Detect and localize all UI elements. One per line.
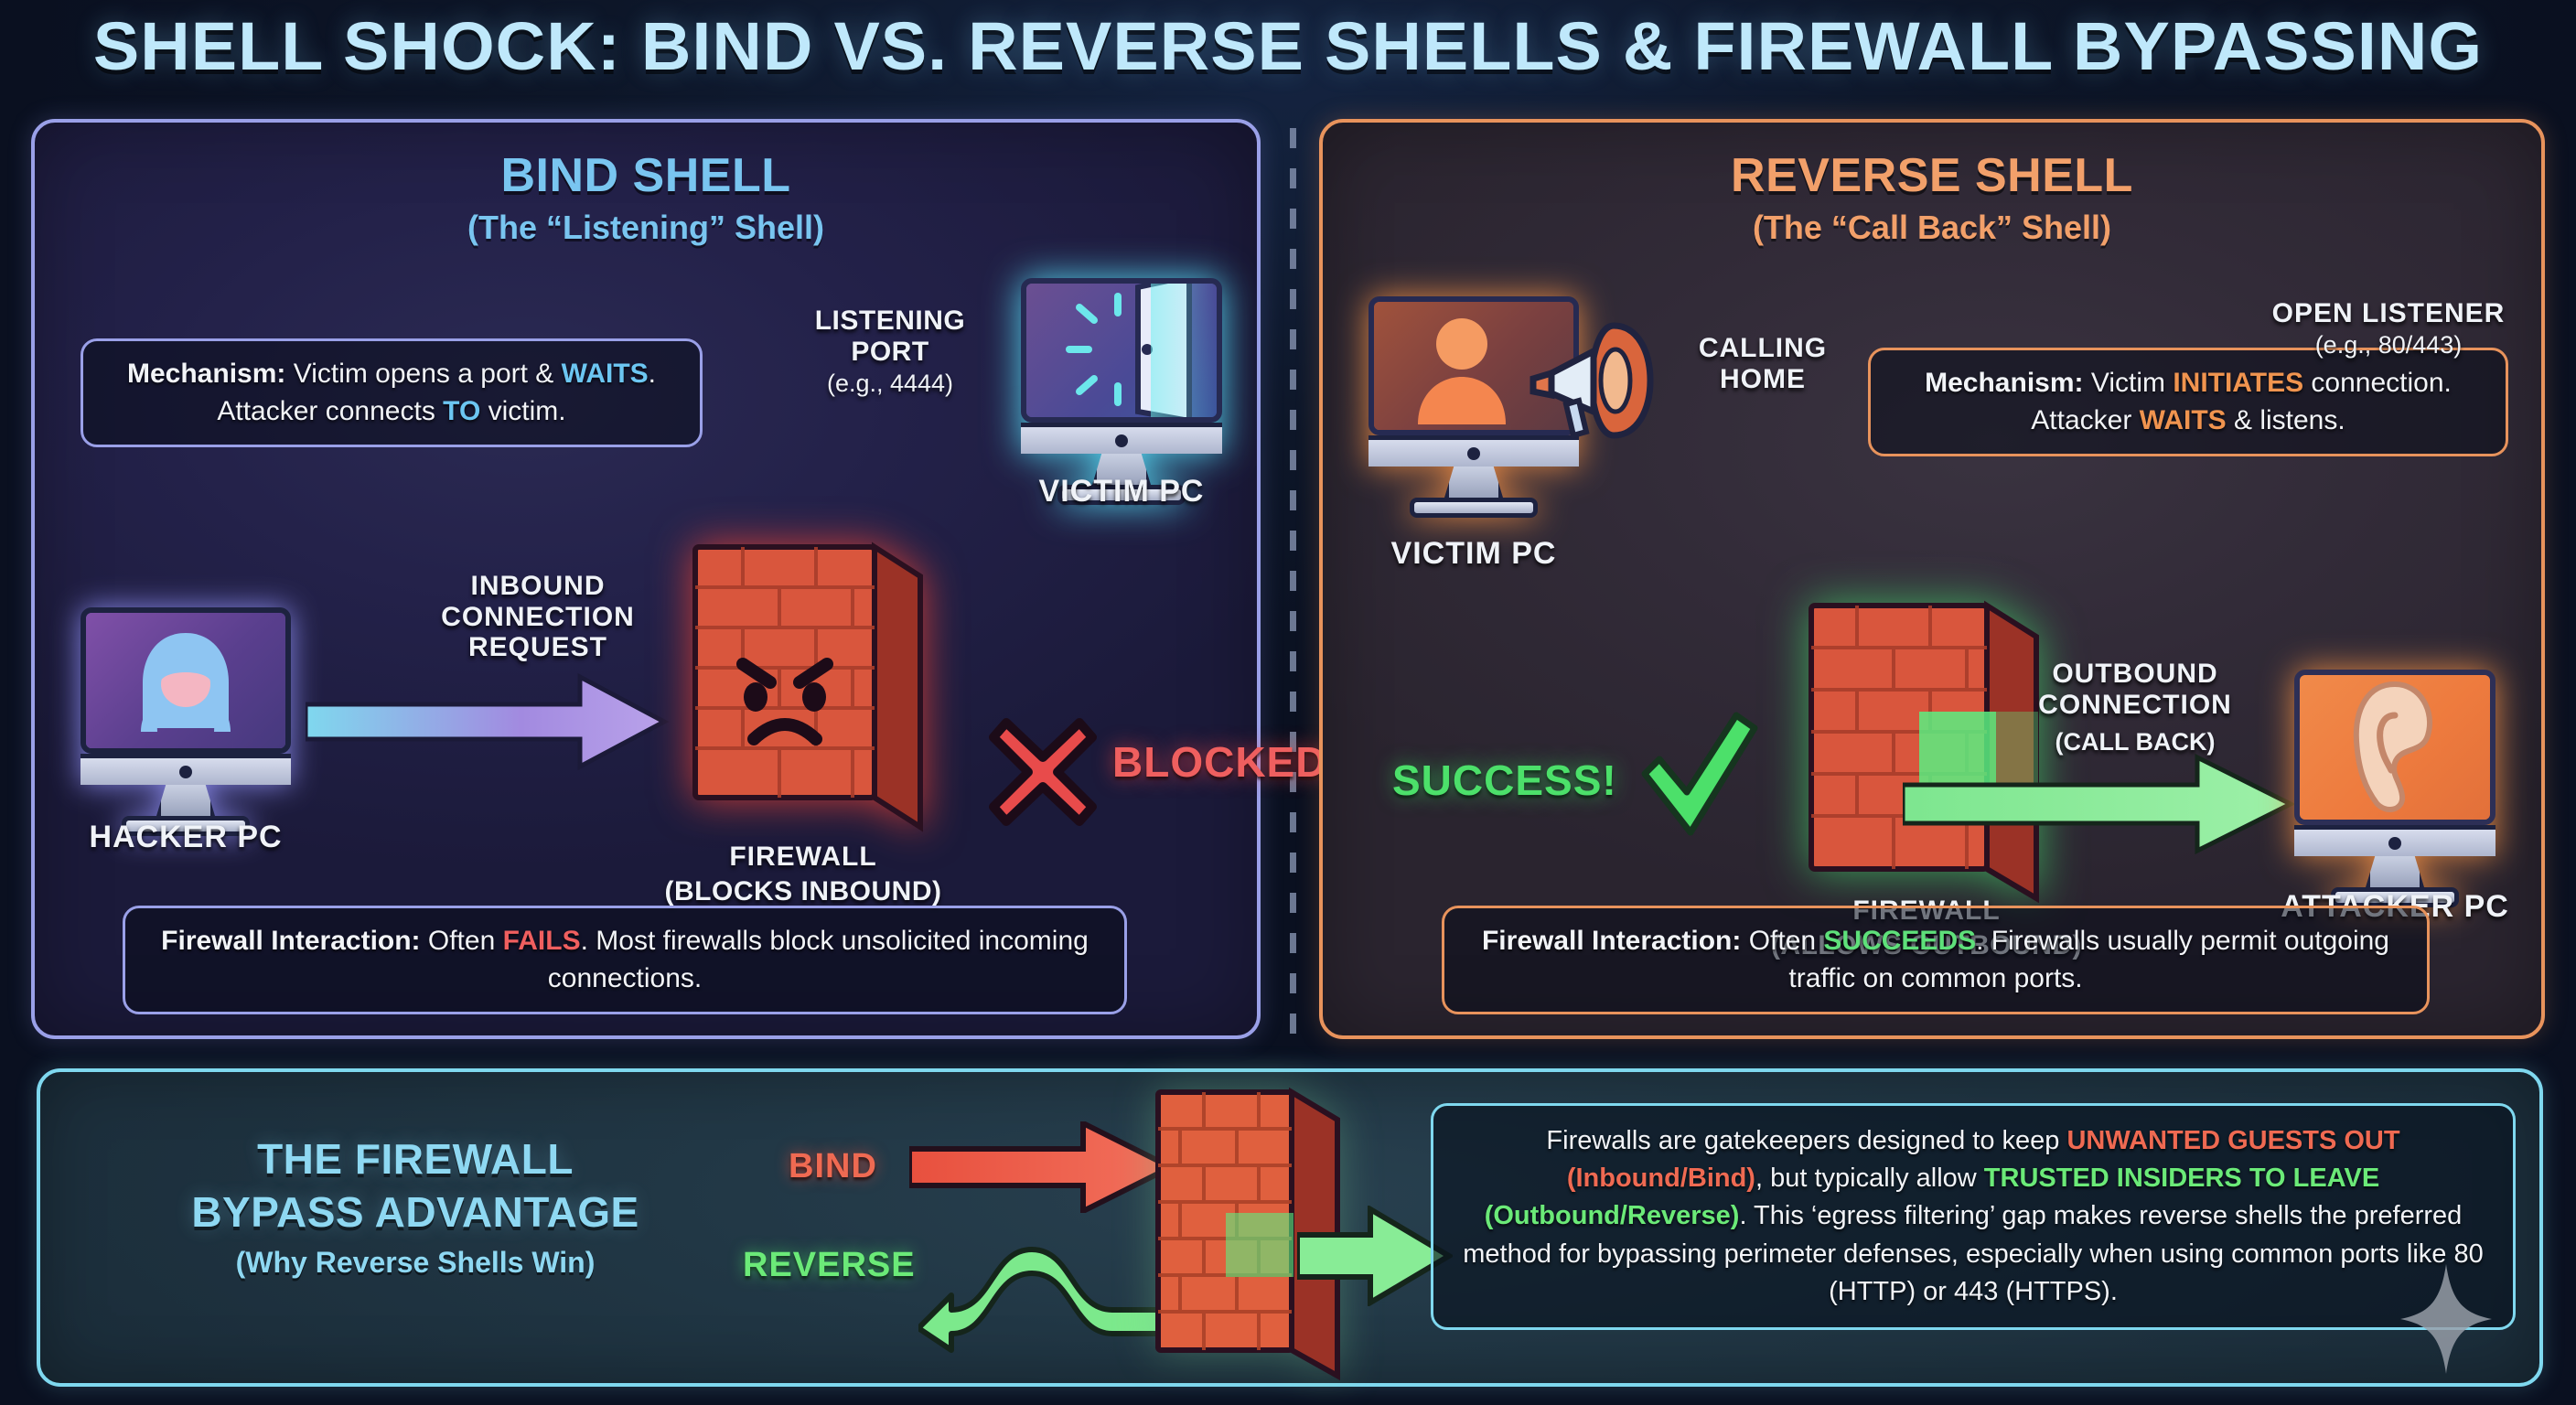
reverse-panel-header: REVERSE SHELL (The “Call Back” Shell)	[1323, 148, 2541, 247]
bind-mechanism-label: Mechanism:	[127, 359, 285, 389]
bind-panel-header: BIND SHELL (The “Listening” Shell)	[35, 148, 1257, 247]
monitor-chin	[1021, 423, 1222, 454]
firewall-blocked-sublabel: (BLOCKS INBOUND)	[602, 876, 1004, 907]
panel-divider	[1290, 128, 1296, 1034]
bind-interaction-highlight-fails: FAILS	[503, 926, 581, 956]
bypass-advantage-panel: THE FIREWALL BYPASS ADVANTAGE (Why Rever…	[37, 1068, 2543, 1387]
open-listener-label: OPEN LISTENER	[2238, 298, 2539, 329]
main-title: SHELL SHOCK: BIND VS. REVERSE SHELLS & F…	[0, 7, 2576, 85]
reverse-interaction-label: Firewall Interaction:	[1482, 926, 1741, 956]
reverse-mechanism-highlight-waits: WAITS	[2140, 405, 2227, 435]
reverse-interaction-box: Firewall Interaction: Often SUCCEEDS. Fi…	[1442, 906, 2430, 1014]
reverse-shell-panel: REVERSE SHELL (The “Call Back” Shell)	[1319, 119, 2545, 1039]
reverse-mechanism-text-1: Victim	[2084, 368, 2173, 398]
reverse-mechanism-box: Mechanism: Victim INITIATES connection. …	[1868, 348, 2508, 456]
reverse-interaction-highlight-succeeds: SUCCEEDS	[1823, 926, 1976, 956]
sparkle-icon	[2400, 1264, 2492, 1374]
summary-box: Firewalls are gatekeepers designed to ke…	[1431, 1103, 2516, 1330]
bind-mechanism-highlight-to: TO	[443, 396, 480, 426]
attacker-pc-monitor-icon	[2294, 670, 2495, 907]
victim-pc-label: VICTIM PC	[1003, 474, 1240, 509]
outbound-arrow-icon	[1903, 754, 2296, 854]
summary-highlight-unwanted-guests: UNWANTED GUESTS OUT	[2066, 1126, 2399, 1155]
hacker-pc-label: HACKER PC	[53, 820, 318, 854]
bind-interaction-label: Firewall Interaction:	[161, 926, 420, 956]
reverse-interaction-text-1: Often	[1741, 926, 1823, 956]
blocked-status-text: BLOCKED!	[1112, 737, 1342, 787]
bypass-exit-arrow-icon	[1297, 1206, 1453, 1306]
bottom-title-line-1: THE FIREWALL	[68, 1134, 763, 1184]
reverse-victim-pc-label: VICTIM PC	[1350, 536, 1597, 571]
main-title-text: SHELL SHOCK: BIND VS. REVERSE SHELLS & F…	[0, 7, 2576, 85]
firewall-wall-blocked-icon	[675, 536, 940, 842]
x-mark-icon	[988, 717, 1098, 827]
reverse-mechanism-label: Mechanism:	[1925, 368, 2083, 398]
bind-mechanism-box: Mechanism: Victim opens a port & WAITS. …	[80, 338, 703, 447]
bottom-subtitle: (Why Reverse Shells Win)	[68, 1246, 763, 1280]
summary-highlight-inbound-bind: (Inbound/Bind)	[1567, 1164, 1755, 1193]
bind-panel-title: BIND SHELL	[35, 148, 1257, 203]
bind-panel-subtitle: (The “Listening” Shell)	[35, 209, 1257, 247]
reverse-panel-subtitle: (The “Call Back” Shell)	[1323, 209, 2541, 247]
inbound-arrow-icon	[306, 671, 671, 772]
infographic-canvas: SHELL SHOCK: BIND VS. REVERSE SHELLS & F…	[0, 0, 2576, 1405]
check-mark-icon	[1634, 708, 1762, 845]
listening-port-label: LISTENING PORT	[785, 306, 995, 367]
open-listener-value: (e.g., 80/443)	[2239, 331, 2538, 359]
bind-mechanism-highlight-waits: WAITS	[562, 359, 649, 389]
bottom-title-block: THE FIREWALL BYPASS ADVANTAGE (Why Rever…	[68, 1134, 763, 1280]
outbound-connection-sublabel: (CALL BACK)	[1996, 728, 2274, 756]
summary-text-1: Firewalls are gatekeepers designed to ke…	[1546, 1126, 2066, 1155]
reverse-panel-title: REVERSE SHELL	[1323, 148, 2541, 203]
hacker-pc-monitor-icon	[80, 607, 291, 836]
bind-interaction-text-2: . Most firewalls block unsolicited incom…	[548, 926, 1089, 993]
megaphone-icon	[1526, 320, 1663, 445]
reverse-arrow-label: REVERSE	[743, 1246, 916, 1285]
summary-highlight-outbound-reverse: (Outbound/Reverse)	[1485, 1201, 1740, 1230]
listening-port-value: (e.g., 4444)	[774, 370, 1006, 397]
bind-mechanism-text-1: Victim opens a port &	[285, 359, 561, 389]
summary-highlight-trusted-insiders: TRUSTED INSIDERS TO LEAVE	[1984, 1164, 2379, 1193]
reverse-mechanism-highlight-initiates: INITIATES	[2173, 368, 2303, 398]
outbound-connection-label: OUTBOUND CONNECTION	[1998, 659, 2272, 720]
summary-text-2: , but typically allow	[1755, 1164, 1984, 1193]
firewall-blocked-label: FIREWALL	[620, 842, 986, 873]
bottom-title-line-2: BYPASS ADVANTAGE	[68, 1187, 763, 1237]
bind-mechanism-text-3: victim.	[480, 396, 565, 426]
reverse-mechanism-text-3: & listens.	[2227, 405, 2345, 435]
bind-shell-panel: BIND SHELL (The “Listening” Shell) Mecha…	[31, 119, 1261, 1039]
victim-pc-monitor-icon	[1021, 278, 1222, 505]
inbound-connection-label: INBOUND CONNECTION REQUEST	[401, 571, 675, 663]
calling-home-label: CALLING HOME	[1658, 333, 1868, 394]
success-status-text: SUCCESS!	[1392, 756, 1617, 805]
bind-arrow-label: BIND	[789, 1147, 877, 1186]
bind-interaction-box: Firewall Interaction: Often FAILS. Most …	[123, 906, 1127, 1014]
bind-interaction-text-1: Often	[421, 926, 503, 956]
